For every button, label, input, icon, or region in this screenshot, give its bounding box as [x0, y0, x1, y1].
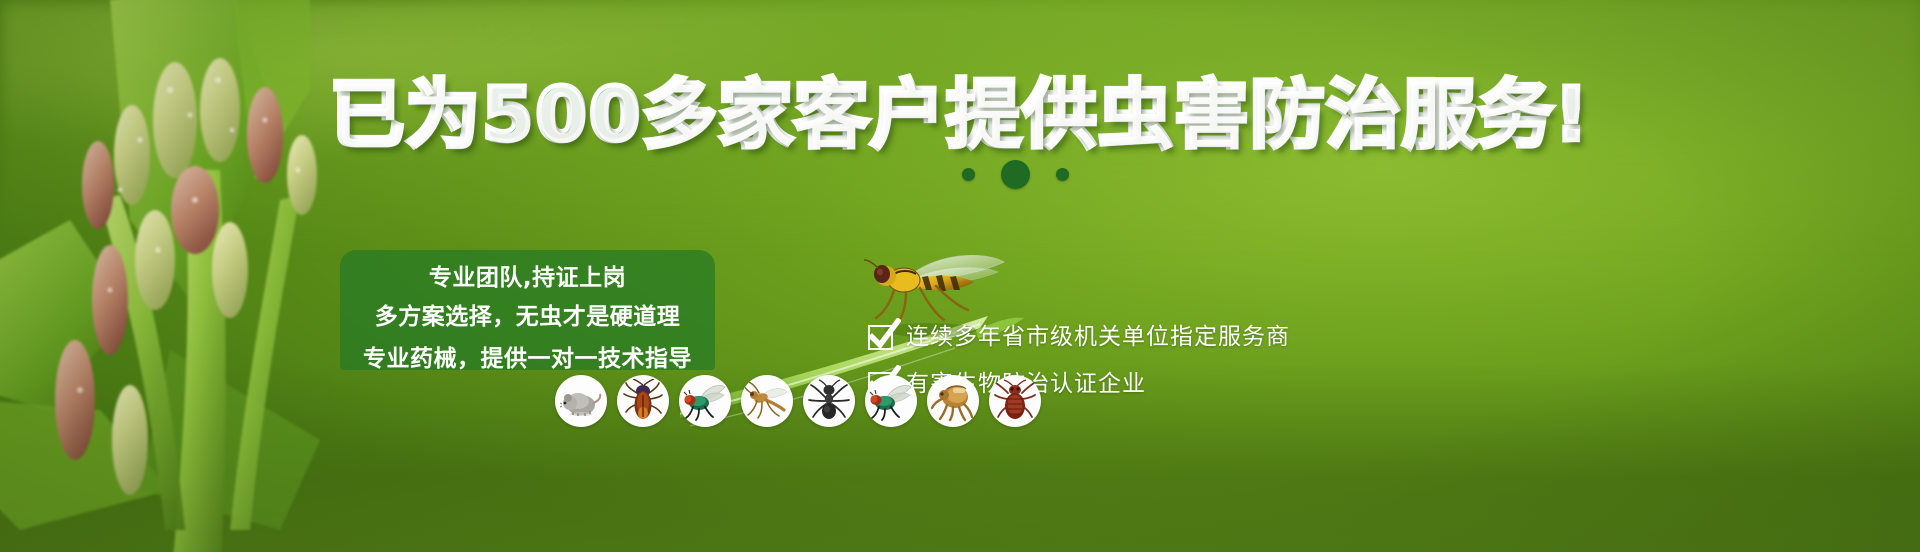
checkbox-checked-icon	[868, 325, 893, 350]
selling-point-line-3: 专业药械，提供一对一技术指导	[340, 338, 715, 380]
page-title: 已为500多家客户提供虫害防治服务!	[0, 78, 1920, 152]
dot-small-right-icon	[1056, 168, 1069, 181]
pest-icon-rodent[interactable]	[555, 375, 607, 427]
list-item-label: 连续多年省市级机关单位指定服务商	[906, 326, 1290, 349]
pest-control-banner: 已为500多家客户提供虫害防治服务! 专业团队,持证上岗 多方案选择，无虫才是硬…	[0, 0, 1920, 552]
pest-icon-fly-2[interactable]	[865, 375, 917, 427]
selling-point-line-1: 专业团队,持证上岗	[340, 260, 715, 296]
pest-icon-flea[interactable]	[927, 375, 979, 427]
selling-point-line-2: 多方案选择，无虫才是硬道理	[340, 296, 715, 338]
cockroach-icon	[621, 379, 665, 423]
bedbug-icon	[993, 379, 1037, 423]
dot-large-icon	[1001, 160, 1030, 189]
pest-icon-cockroach[interactable]	[617, 375, 669, 427]
pest-icon-mosquito[interactable]	[741, 375, 793, 427]
fly-icon	[683, 379, 727, 423]
fly-icon	[869, 379, 913, 423]
rodent-icon	[559, 379, 603, 423]
pest-icon-ant[interactable]	[803, 375, 855, 427]
dot-small-left-icon	[962, 168, 975, 181]
list-item: 连续多年省市级机关单位指定服务商	[868, 325, 1290, 350]
ant-icon	[807, 379, 851, 423]
selling-points-panel: 专业团队,持证上岗 多方案选择，无虫才是硬道理 专业药械，提供一对一技术指导	[340, 250, 715, 370]
flea-icon	[931, 379, 975, 423]
pest-icon-fly[interactable]	[679, 375, 731, 427]
mosquito-icon	[745, 379, 789, 423]
page-title-text: 已为500多家客户提供虫害防治服务!	[330, 72, 1590, 158]
decorative-dots	[0, 160, 1920, 189]
pest-icon-row	[555, 375, 1041, 427]
pest-icon-bedbug[interactable]	[989, 375, 1041, 427]
